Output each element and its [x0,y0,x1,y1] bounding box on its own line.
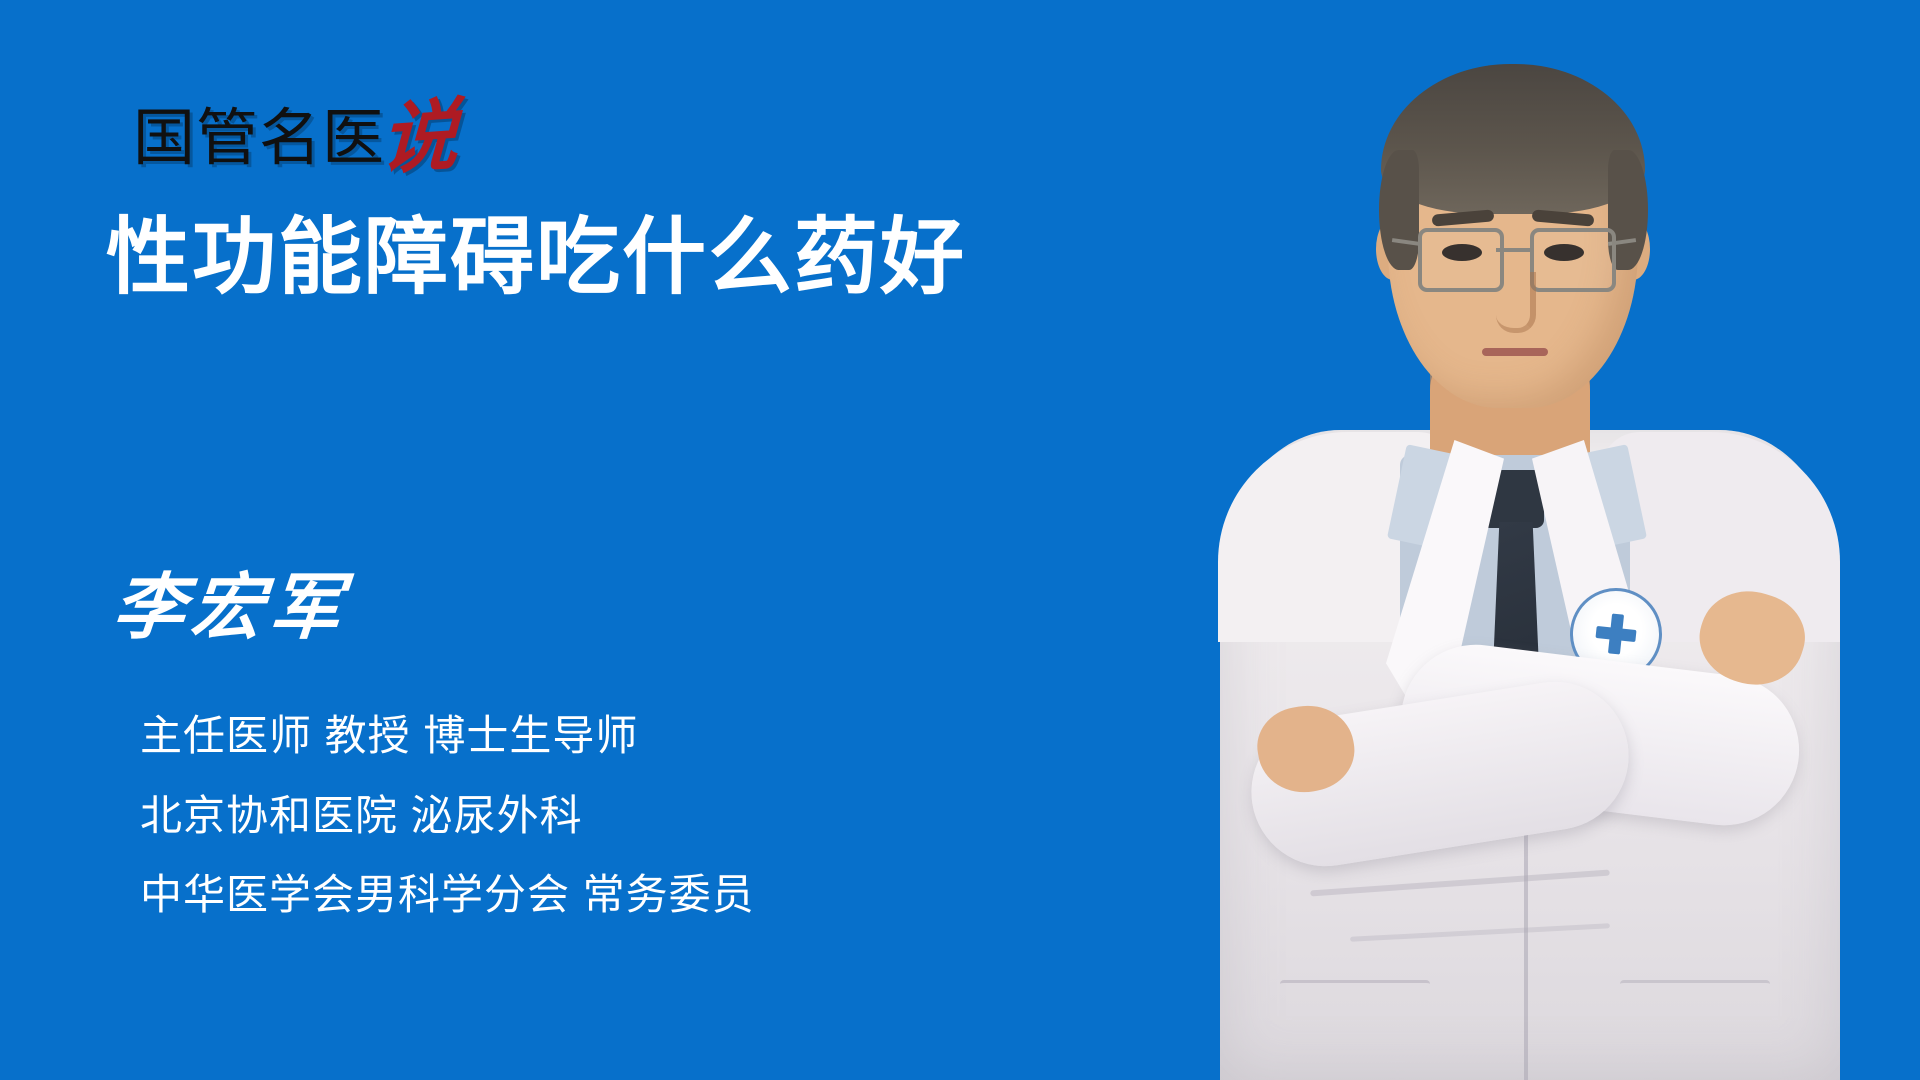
episode-title: 性功能障碍吃什么药好 [106,212,966,303]
hair-side-left [1379,150,1419,270]
eyeglasses-lens-left [1418,228,1504,292]
credential-line-association: 中华医学会男科学分会 常务委员 [140,873,755,918]
eyeglasses-lens-right [1530,228,1616,292]
program-logo-accent-text: 说 [379,98,459,178]
lab-coat-pocket-right [1620,980,1770,1063]
program-logo: 国管名医 说 [133,92,457,170]
doctor-name: 李宏军 [110,572,350,644]
lab-coat-pocket-left [1280,980,1430,1063]
video-title-card: 国管名医 说 性功能障碍吃什么药好 李宏军 主任医师 教授 博士生导师 北京协和… [0,0,1920,1080]
mouth [1482,348,1548,356]
hair [1381,64,1645,214]
program-logo-main-text: 国管名医 [133,108,385,170]
medical-cross-icon [1594,612,1638,656]
nose [1496,272,1536,333]
doctor-portrait-image: 中国医师协会会员单位 [1100,0,1920,1080]
credential-line-hospital: 北京协和医院 泌尿外科 [140,794,755,839]
doctor-credentials: 主任医师 教授 博士生导师 北京协和医院 泌尿外科 中华医学会男科学分会 常务委… [140,714,755,918]
credential-line-title: 主任医师 教授 博士生导师 [140,714,755,759]
eyeglasses-bridge [1496,248,1530,252]
